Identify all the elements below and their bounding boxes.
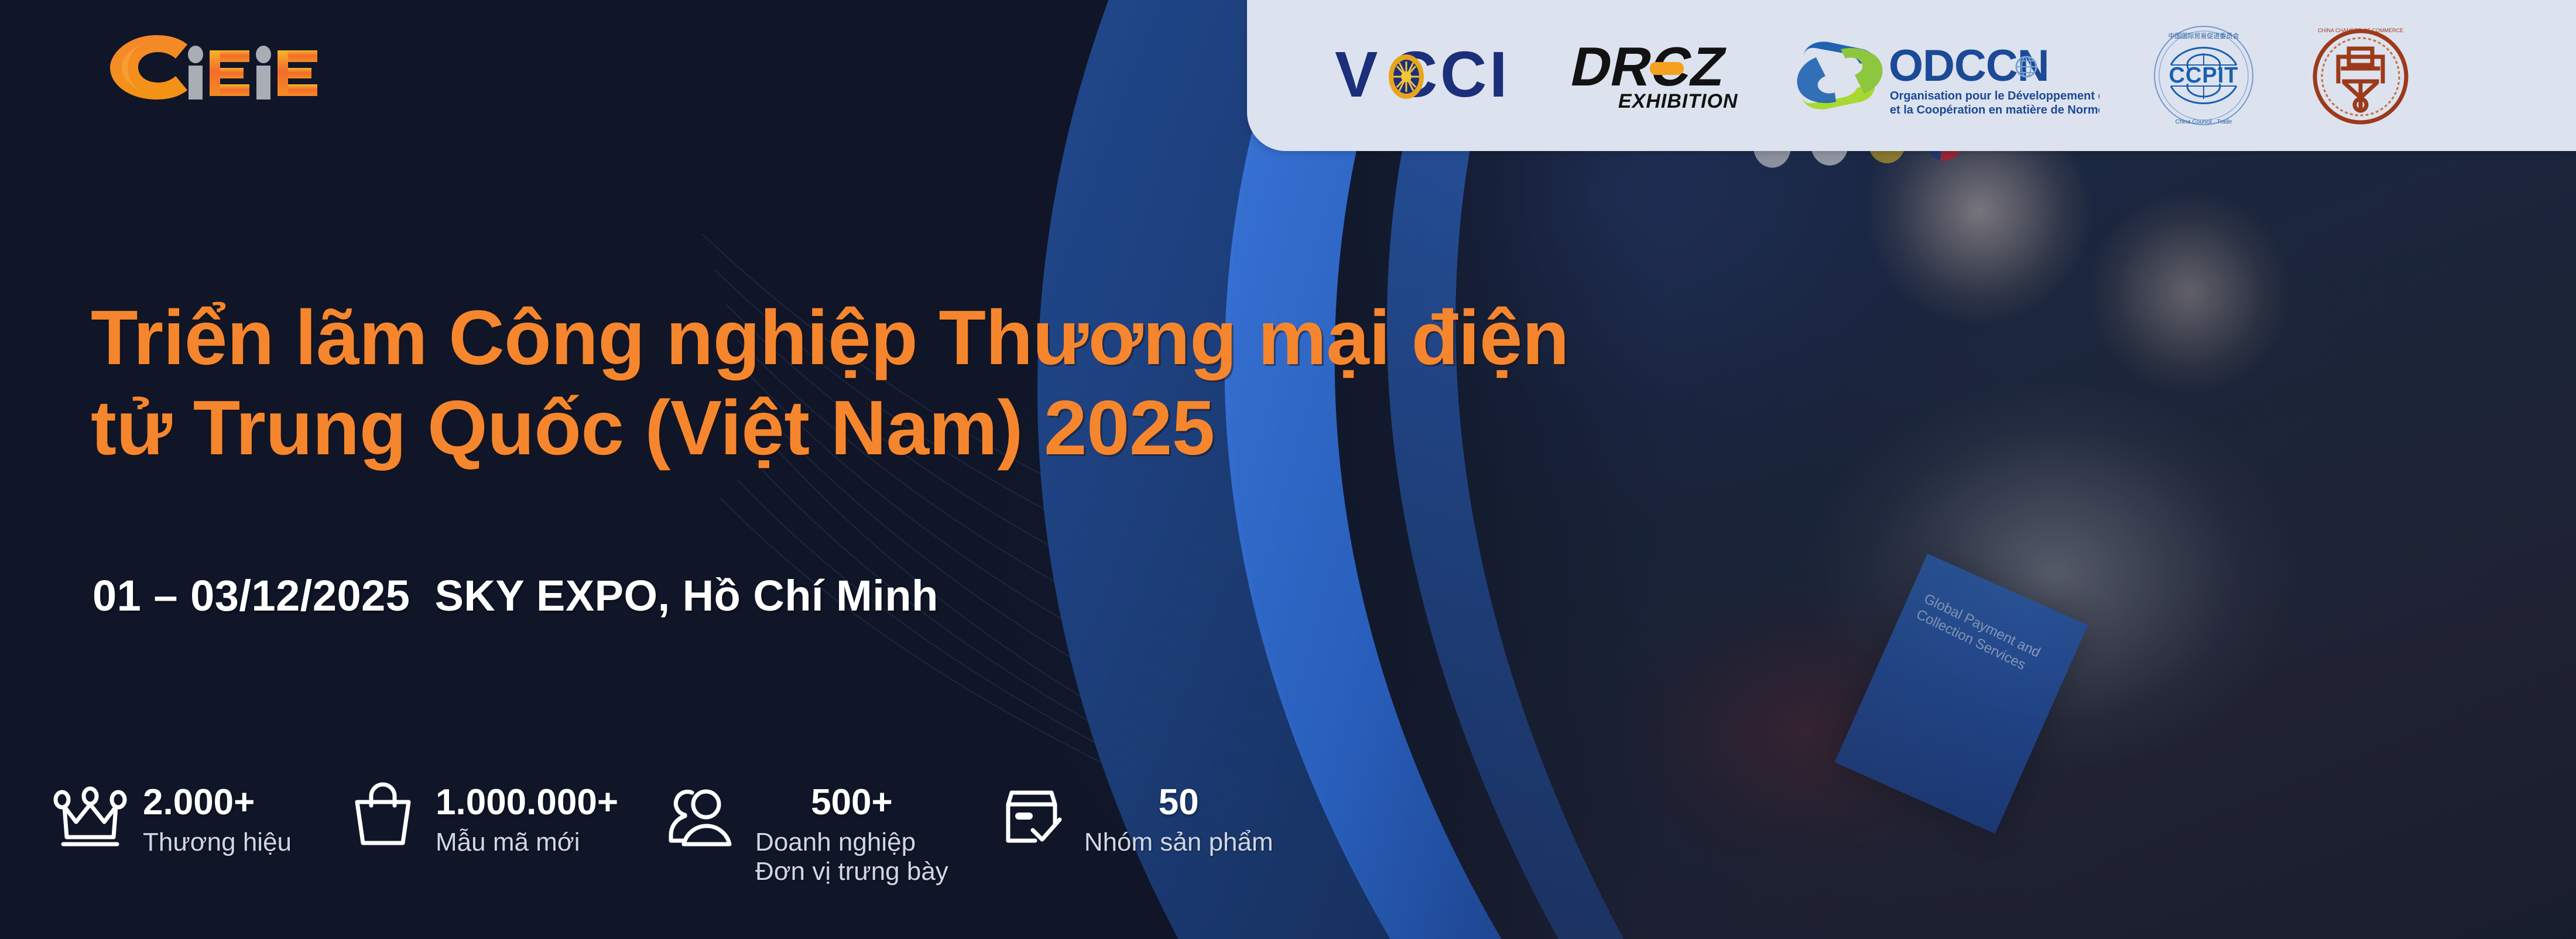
- stat-label: Mẫu mã mới: [436, 828, 618, 857]
- stat-value: 50: [1084, 784, 1273, 821]
- partner-logo-vcci[interactable]: V C C I: [1335, 23, 1516, 128]
- page-title: Triển lãm Công nghiệp Thương mại điện tử…: [91, 293, 2023, 474]
- svg-text:C: C: [1440, 40, 1486, 111]
- stat-value: 1.000.000+: [436, 784, 618, 821]
- partner-logo-cccme-seal[interactable]: CHINA CHAMBER OF COMMERCE: [2308, 23, 2413, 128]
- stat-value: 500+: [755, 784, 948, 821]
- stat-item-enterprises: 500+ Doanh nghiệp Đơn vị trưng bày: [665, 779, 948, 886]
- seal-glyph: [2338, 49, 2383, 111]
- crown-icon: [53, 779, 128, 854]
- stat-label: Nhóm sản phẩm: [1084, 828, 1273, 857]
- vcci-star-emblem: [1389, 54, 1424, 99]
- svg-text:ODCCN: ODCCN: [1889, 41, 2049, 91]
- stat-item-product-groups: 50 Nhóm sản phẩm: [994, 779, 1273, 857]
- cieie-logo[interactable]: [88, 28, 334, 104]
- odccn-mark: [1797, 42, 1883, 109]
- svg-text:DRCZ: DRCZ: [1568, 37, 1731, 98]
- stat-item-brands: 2.000+ Thương hiệu: [53, 779, 292, 857]
- partner-logo-odccn[interactable]: ODCCN Organisation pour le Développement…: [1795, 23, 2099, 128]
- partner-logo-drcz[interactable]: DRCZ EXHIBITION: [1568, 23, 1743, 128]
- svg-text:Organisation pour le Développe: Organisation pour le Développement du Co…: [1890, 90, 2099, 102]
- svg-text:et la Coopération en matière d: et la Coopération en matière de Normes: [1890, 104, 2099, 116]
- svg-text:CCPIT: CCPIT: [2169, 63, 2239, 88]
- stat-label-secondary: Đơn vị trưng bày: [755, 857, 948, 886]
- event-date-venue: 01 – 03/12/2025 SKY EXPO, Hồ Chí Minh: [93, 571, 938, 621]
- shopping-bag-icon: [345, 779, 420, 854]
- people-icon: [665, 779, 740, 854]
- svg-text:China Council · Trade: China Council · Trade: [2176, 119, 2232, 125]
- svg-text:CHINA CHAMBER OF COMMERCE: CHINA CHAMBER OF COMMERCE: [2318, 28, 2403, 33]
- svg-text:V: V: [1335, 40, 1378, 111]
- stat-item-new-models: 1.000.000+ Mẫu mã mới: [345, 779, 618, 857]
- stats-row: 2.000+ Thương hiệu 1.000.000+ Mẫu mã mới: [53, 779, 1330, 886]
- title-line-2: tử Trung Quốc (Việt Nam) 2025: [91, 383, 2023, 473]
- event-banner: Mở tài khoản nhận tiền Đông Nam Á: Globa…: [0, 0, 2576, 939]
- partner-logo-ccpit[interactable]: CCPIT 中国国际贸易促进委员会 China Council · Trade: [2151, 23, 2256, 128]
- svg-text:中国国际贸易促进委员会: 中国国际贸易促进委员会: [2169, 32, 2239, 40]
- partner-logo-panel: V C C I: [1247, 0, 2576, 151]
- stat-label: Thương hiệu: [143, 828, 292, 857]
- title-line-1: Triển lãm Công nghiệp Thương mại điện: [91, 293, 2023, 383]
- stat-label: Doanh nghiệp: [755, 828, 948, 857]
- svg-text:I: I: [1489, 40, 1508, 111]
- stat-value: 2.000+: [143, 784, 292, 821]
- svg-text:EXHIBITION: EXHIBITION: [1618, 90, 1738, 112]
- box-check-icon: [994, 779, 1069, 854]
